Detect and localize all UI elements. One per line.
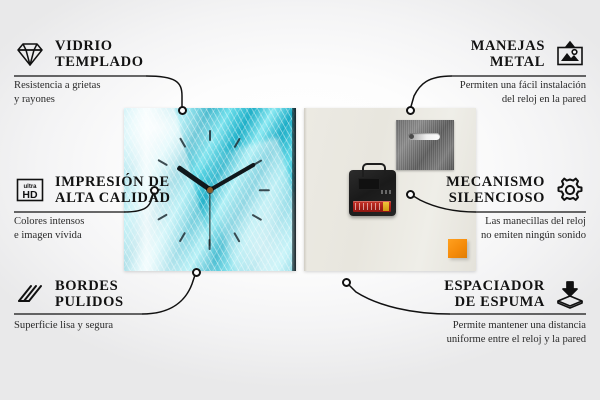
gear-icon [554,175,586,205]
callout-espaciador-espuma: ESPACIADOR DE ESPUMA Permite mantener un… [371,274,586,347]
callout-title: MECANISMO SILENCIOSO [446,174,545,206]
polished-edges-icon [14,279,46,309]
clock-tick [259,189,270,191]
connector-dot-vidrio [178,106,187,115]
callout-desc: Colores intensos e imagen vívida [14,215,229,243]
clock-tick [209,130,211,141]
ultra-hd-icon: ultra HD [14,175,46,205]
callout-title: BORDES PULIDOS [55,278,124,310]
callout-desc: Las manecillas del reloj no emiten ningú… [371,215,586,243]
callout-impresion-alta-calidad: ultra HD IMPRESIÓN DE ALTA CALIDAD Color… [14,170,229,243]
callout-manejas-metal: MANEJAS METAL Permiten una fácil instala… [371,34,586,107]
panel-edge-left [304,108,307,271]
panel-edge-right [292,108,296,271]
diamond-icon [14,39,46,69]
callout-title: MANEJAS METAL [471,38,545,70]
infographic-canvas: VIDRIO TEMPLADO Resistencia a grietas y … [0,0,600,400]
clock-tick [179,137,186,147]
clock-tick [252,213,262,220]
connector-dot-espaciador [342,278,351,287]
callout-desc: Permiten una fácil instalación del reloj… [371,79,586,107]
callout-title: ESPACIADOR DE ESPUMA [444,278,545,310]
clock-tick [234,232,241,242]
metal-hanger-plate [396,120,454,170]
picture-hanger-icon [554,39,586,69]
callout-desc: Resistencia a grietas y rayones [14,79,229,107]
connector-dot-manejas [406,106,415,115]
callout-desc: Permite mantener una distancia uniforme … [371,319,586,347]
keyhole-slot [408,133,440,140]
clock-tick [158,159,168,166]
callout-bordes-pulidos: BORDES PULIDOS Superficie lisa y segura [14,274,229,333]
callout-vidrio-templado: VIDRIO TEMPLADO Resistencia a grietas y … [14,34,229,107]
svg-text:HD: HD [22,189,38,201]
foam-spacer-icon [554,279,586,309]
callout-title: VIDRIO TEMPLADO [55,38,144,70]
callout-title: IMPRESIÓN DE ALTA CALIDAD [55,174,171,206]
callout-desc: Superficie lisa y segura [14,319,229,333]
callout-mecanismo-silencioso: MECANISMO SILENCIOSO Las manecillas del … [371,170,586,243]
clock-tick [234,137,241,147]
